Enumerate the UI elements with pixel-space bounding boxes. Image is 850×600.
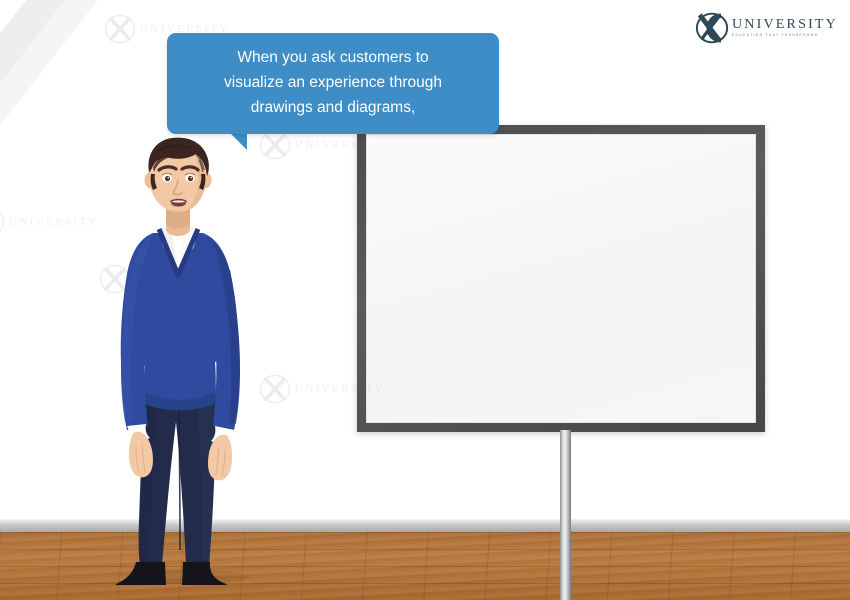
presenter-character [100, 130, 275, 585]
brand-name: UNIVERSITY [732, 18, 838, 32]
brand-tagline: EDUCATION THAT TRANSFORMS [732, 34, 838, 38]
x-monogram-icon [694, 10, 730, 46]
speech-bubble: When you ask customers to visualize an e… [167, 33, 499, 134]
brand-text-group: UNIVERSITY EDUCATION THAT TRANSFORMS [732, 18, 838, 37]
speech-bubble-text: When you ask customers to visualize an e… [183, 45, 483, 120]
tripod-center-pole [560, 430, 571, 600]
projector-screen-canvas[interactable] [366, 134, 756, 423]
video-frame: UNIVERSITY UNIVERSITY UNIVERSITY UNIVERS… [0, 0, 850, 600]
brand-logo: UNIVERSITY EDUCATION THAT TRANSFORMS [694, 10, 838, 46]
projector-screen-assembly [357, 125, 765, 432]
projector-screen-frame [357, 125, 765, 432]
